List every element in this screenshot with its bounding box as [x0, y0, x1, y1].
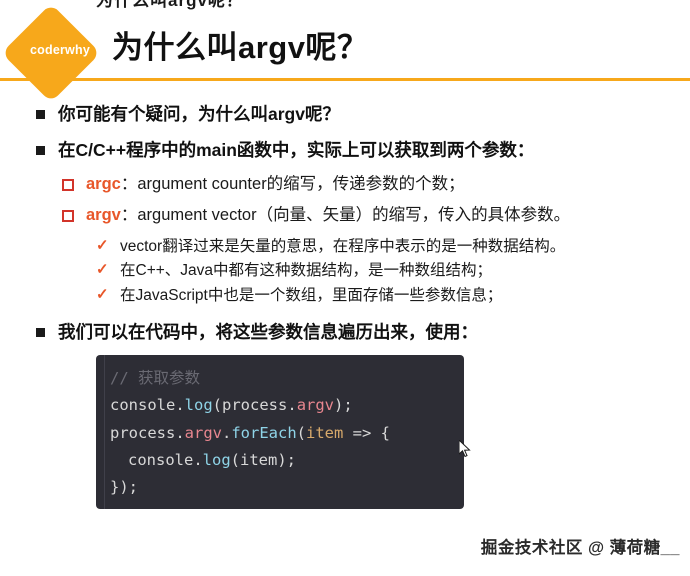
param-keyword: argc: [86, 175, 121, 193]
sub-point-2: ✓ 在JavaScript中也是一个数组，里面存储一些参数信息；: [96, 284, 690, 309]
slide-header: coderwhy 为什么叫argv呢？: [0, 10, 690, 81]
code-token: console: [110, 396, 175, 414]
code-token: (: [213, 396, 222, 414]
code-token: .: [193, 451, 202, 469]
check-bullet-icon: ✓: [96, 258, 109, 282]
code-token: process: [110, 424, 175, 442]
param-item-argc: argc：argument counter的缩写，传递参数的个数；: [62, 172, 690, 198]
code-line: console.log(process.argv);: [96, 392, 464, 419]
code-token: log: [185, 396, 213, 414]
code-token: (: [297, 424, 306, 442]
square-bullet-icon: [36, 110, 45, 119]
check-bullet-icon: ✓: [96, 283, 109, 307]
code-token: log: [203, 451, 231, 469]
slide: coderwhy 为什么叫argv呢？ 你可能有个疑问，为什么叫argv呢？ 在…: [0, 10, 690, 576]
param-item-argv: argv：argument vector（向量、矢量）的缩写，传入的具体参数。: [62, 203, 690, 229]
bullet-text: 我们可以在代码中，将这些参数信息遍历出来，使用：: [58, 322, 478, 342]
code-comment-line: // 获取参数: [96, 365, 464, 392]
code-block: // 获取参数 console.log(process.argv);proces…: [96, 355, 464, 509]
sub-point-0: ✓ vector翻译过来是矢量的意思，在程序中表示的是一种数据结构。: [96, 235, 690, 260]
param-description: ：argument counter的缩写，传递参数的个数；: [121, 175, 465, 193]
mouse-cursor-icon: [459, 440, 471, 458]
code-token: .: [175, 424, 184, 442]
param-description: ：argument vector（向量、矢量）的缩写，传入的具体参数。: [121, 206, 570, 224]
bullet-text: 你可能有个疑问，为什么叫argv呢？: [58, 104, 340, 124]
watermark: 掘金技术社区 @ 薄荷糖__: [481, 534, 680, 558]
code-token: argv: [185, 424, 222, 442]
code-lines: console.log(process.argv);process.argv.f…: [96, 392, 464, 501]
bullet-level1-1: 在C/C++程序中的main函数中，实际上可以获取到两个参数：: [34, 137, 690, 163]
logo-label: coderwhy: [20, 43, 100, 57]
code-line: process.argv.forEach(item => {: [96, 420, 464, 447]
check-bullet-icon: ✓: [96, 234, 109, 258]
param-keyword: argv: [86, 206, 121, 224]
bullet-level1-0: 你可能有个疑问，为什么叫argv呢？: [34, 101, 690, 127]
code-token: => {: [343, 424, 390, 442]
sub-point-1: ✓ 在C++、Java中都有这种数据结构，是一种数组结构；: [96, 259, 690, 284]
previous-slide-title: 为什么叫argv呢？: [96, 0, 244, 10]
code-token: });: [110, 478, 138, 496]
hollow-square-bullet-icon: [62, 179, 74, 191]
code-line: });: [96, 474, 464, 501]
page-title: 为什么叫argv呢？: [112, 22, 368, 67]
hollow-square-bullet-icon: [62, 210, 74, 222]
code-token: console: [128, 451, 193, 469]
code-token: forEach: [231, 424, 296, 442]
code-comment: // 获取参数: [110, 369, 200, 387]
square-bullet-icon: [36, 328, 45, 337]
code-token: process: [222, 396, 287, 414]
sub-point-text: vector翻译过来是矢量的意思，在程序中表示的是一种数据结构。: [120, 238, 565, 255]
code-token: (: [231, 451, 240, 469]
square-bullet-icon: [36, 146, 45, 155]
sub-point-text: 在JavaScript中也是一个数组，里面存储一些参数信息；: [120, 287, 502, 304]
code-line: console.log(item);: [96, 447, 464, 474]
slide-body: 你可能有个疑问，为什么叫argv呢？ 在C/C++程序中的main函数中，实际上…: [0, 81, 690, 509]
sub-point-text: 在C++、Java中都有这种数据结构，是一种数组结构；: [120, 262, 492, 279]
previous-slide-sliver: 为什么叫argv呢？: [0, 0, 690, 10]
bullet-text: 在C/C++程序中的main函数中，实际上可以获取到两个参数：: [58, 140, 534, 160]
code-token: item: [240, 451, 277, 469]
code-token: .: [175, 396, 184, 414]
code-token: item: [306, 424, 343, 442]
code-token: );: [277, 451, 296, 469]
code-token: argv: [297, 396, 334, 414]
code-token: );: [334, 396, 353, 414]
code-guide-line: [104, 355, 105, 509]
code-token: .: [287, 396, 296, 414]
bullet-level1-2: 我们可以在代码中，将这些参数信息遍历出来，使用：: [34, 319, 690, 345]
code-token: .: [222, 424, 231, 442]
